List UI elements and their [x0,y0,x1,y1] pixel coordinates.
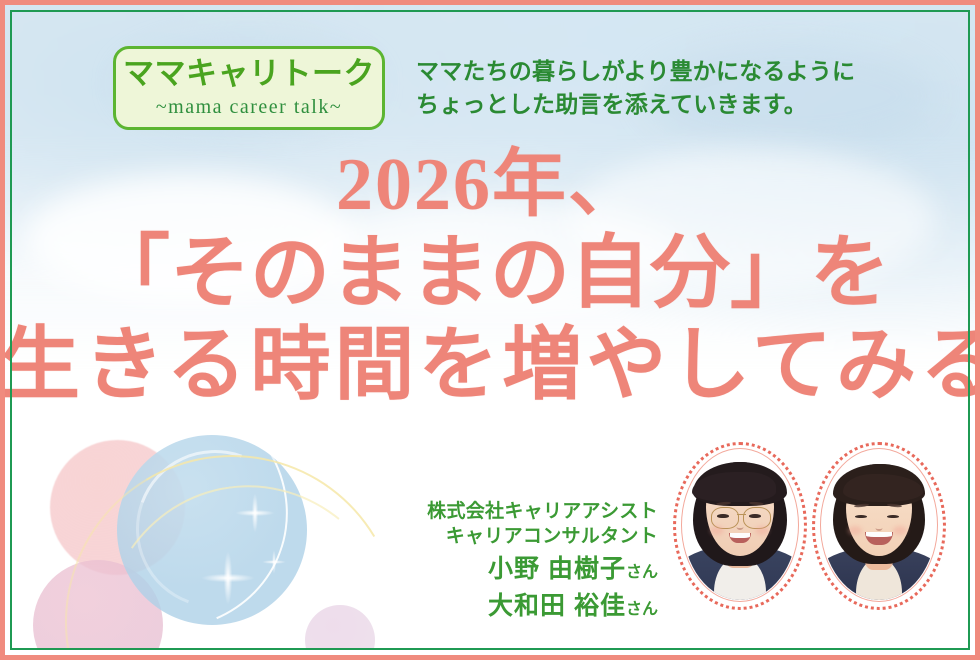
portrait-owada [812,442,946,610]
lead-copy-line-2: ちょっとした助言を添えていきます。 [416,88,855,121]
page-title: 2026年、 「そのままの自分」を 生きる時間を増やしてみる [0,148,980,406]
headline-line-3: 生きる時間を増やしてみる [0,326,980,406]
credit-person-2: 大和田 裕佳さん [427,590,658,623]
series-badge: ママキャリトーク ~mama career talk~ [113,46,385,130]
credit-person-2-name: 大和田 裕佳 [488,592,626,620]
credit-person-1-honorific: さん [626,564,658,581]
glasses-icon [743,507,771,529]
credits-block: 株式会社キャリアアシスト キャリアコンサルタント 小野 由樹子さん 大和田 裕佳… [427,500,658,622]
credit-role: キャリアコンサルタント [427,525,658,550]
credit-person-2-honorific: さん [626,601,658,618]
headline-line-2: 「そのままの自分」を [0,234,980,314]
sparkle-icon [227,485,283,541]
credit-organization: 株式会社キャリアアシスト [427,500,658,525]
banner-root: ママキャリトーク ~mama career talk~ ママたちの暮らしがより豊… [0,0,980,660]
sparkle-icon [257,545,291,579]
credit-person-1: 小野 由樹子さん [427,553,658,586]
lead-copy: ママたちの暮らしがより豊かになるように ちょっとした助言を添えていきます。 [416,55,855,120]
portrait-ono-photo [683,450,797,600]
sparkle-icon [190,540,266,616]
series-badge-title-jp: ママキャリトーク [116,58,382,89]
portrait-ono [673,442,807,610]
series-badge-title-en: ~mama career talk~ [116,97,382,117]
bottom-strip [5,650,975,655]
headline-line-1: 2026年、 [0,148,980,222]
credit-person-1-name: 小野 由樹子 [488,555,626,583]
portrait-owada-photo [822,450,936,600]
lead-copy-line-1: ママたちの暮らしがより豊かになるように [416,55,855,88]
